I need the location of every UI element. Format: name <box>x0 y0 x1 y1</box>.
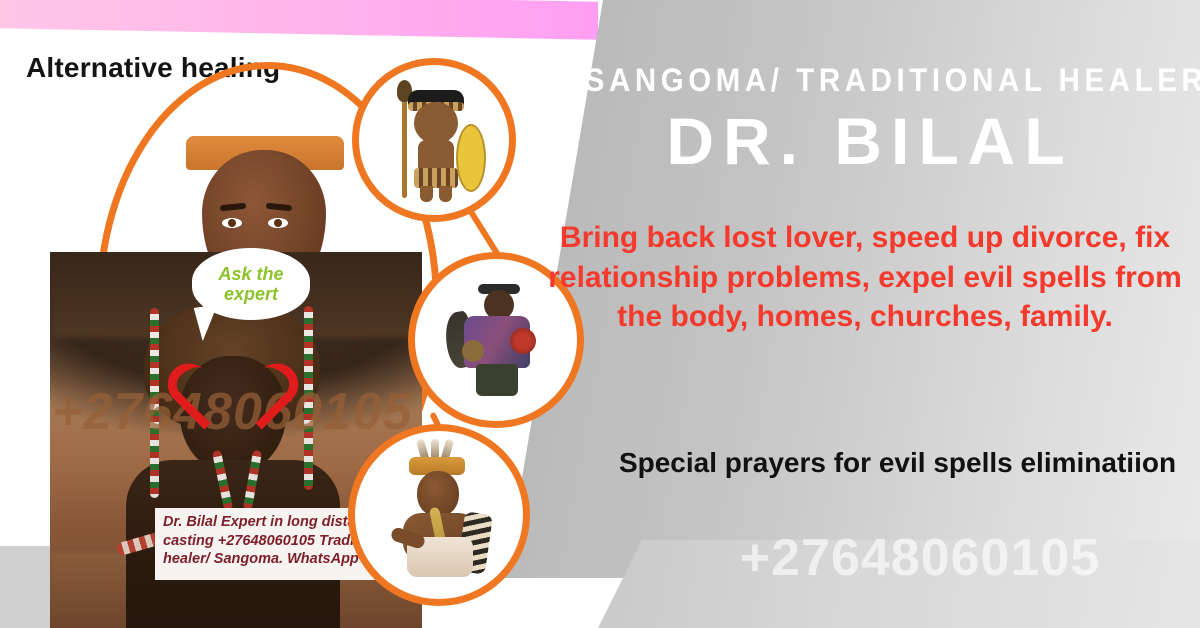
ask-the-expert-bubble: Ask the expert <box>192 248 310 320</box>
circle-zulu-warrior <box>352 58 516 222</box>
healer-name-title: DR. BILAL <box>560 108 1180 174</box>
services-text: Bring back lost lover, speed up divorce,… <box>540 218 1190 337</box>
kicker-heading: SANGOMA/ TRADITIONAL HEALER <box>585 62 1155 99</box>
poster-canvas: Alternative healing <box>0 0 1200 628</box>
heart-doodle <box>192 330 276 406</box>
pink-accent-bar <box>0 0 598 40</box>
special-offer-text: Special prayers for evil spells eliminat… <box>610 444 1185 482</box>
speech-bubble-label: Ask the expert <box>192 264 310 304</box>
circle-crouching-sangoma <box>348 424 530 606</box>
phone-watermark: +27648060105 <box>640 528 1200 588</box>
